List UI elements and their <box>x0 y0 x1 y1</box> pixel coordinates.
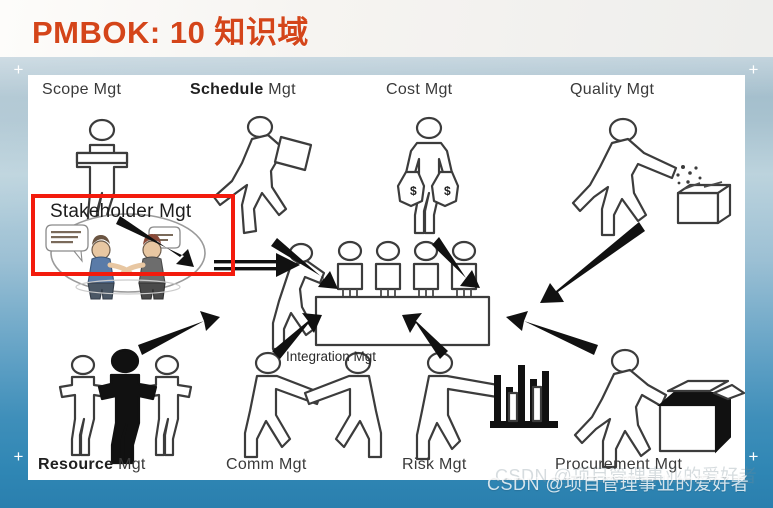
watermark-text: CSDN @项目管理事业的爱好者 <box>487 470 749 496</box>
arrow-resource-to-center <box>138 311 220 355</box>
label-schedule-mgt: Schedule Mgt <box>190 81 296 99</box>
label-comm-mgt: Comm Mgt <box>226 456 307 474</box>
person-inspecting-box-icon <box>573 119 730 235</box>
title-band: PMBOK: 10 知识域 <box>0 0 773 57</box>
label-schedule-bold: Schedule <box>190 81 264 98</box>
arrow-procurement-to-center <box>506 311 598 355</box>
label-resource-bold: Resource <box>38 456 113 473</box>
svg-text:$: $ <box>444 184 451 198</box>
label-risk-mgt: Risk Mgt <box>402 456 467 474</box>
corner-plus-icon-top-right: + <box>746 62 761 77</box>
page-title: PMBOK: 10 知识域 <box>32 7 309 52</box>
label-resource-suffix: Mgt <box>113 456 145 473</box>
corner-plus-icon-bottom-left: + <box>11 449 26 464</box>
person-bar-chart-icon <box>417 353 558 459</box>
label-schedule-suffix: Mgt <box>264 81 296 98</box>
two-people-handshake-icon <box>245 353 381 457</box>
arrow-quality-to-center <box>540 222 645 303</box>
label-cost-mgt: Cost Mgt <box>386 81 452 99</box>
svg-text:$: $ <box>410 184 417 198</box>
image-frame: + + + + .fig { fill:#ffffff; stroke:#3c3… <box>0 57 773 508</box>
diagram-canvas: .fig { fill:#ffffff; stroke:#3c3c3c; str… <box>28 75 745 480</box>
person-money-bags-icon: $ $ <box>398 118 458 233</box>
people-at-table-icon <box>273 242 489 349</box>
label-scope-mgt: Scope Mgt <box>42 81 121 99</box>
three-people-icon <box>60 350 191 463</box>
label-resource-mgt: Resource Mgt <box>38 456 146 474</box>
label-stakeholder-mgt: Stakeholder Mgt <box>50 201 191 223</box>
label-integration-mgt: Integration Mgt <box>286 349 376 364</box>
person-packing-box-icon <box>575 350 744 467</box>
corner-plus-icon-top-left: + <box>11 62 26 77</box>
slide-root: PMBOK: 10 知识域 + + + + .fig { fill:#fffff… <box>0 0 773 508</box>
diagram-svg: .fig { fill:#ffffff; stroke:#3c3c3c; str… <box>28 75 745 480</box>
label-quality-mgt: Quality Mgt <box>570 81 654 99</box>
